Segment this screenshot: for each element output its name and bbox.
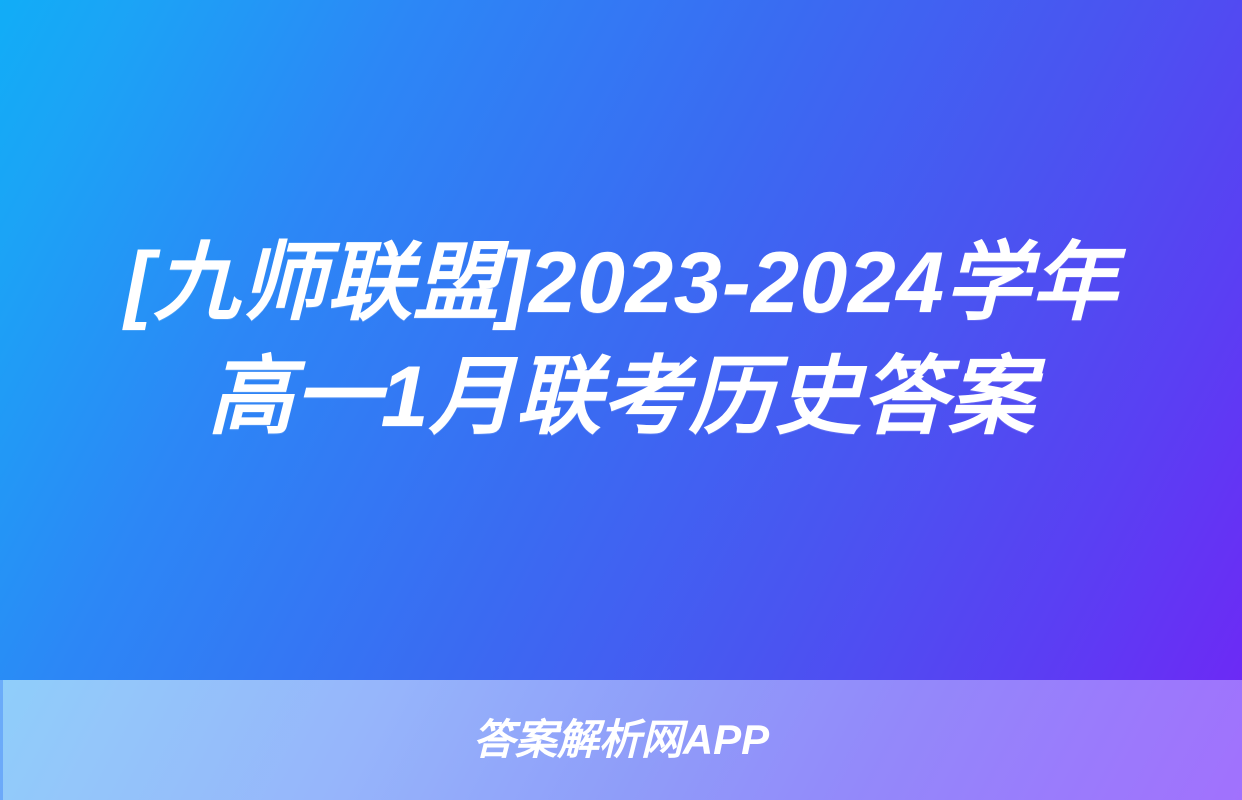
title-block: [九师联盟]2023-2024学年高一1月联考历史答案 — [92, 226, 1150, 455]
cover-canvas: [九师联盟]2023-2024学年高一1月联考历史答案 答案解析网APP — [0, 0, 1242, 800]
watermark-label: 答案解析网APP — [473, 719, 769, 761]
footer-watermark-band: 答案解析网APP — [0, 680, 1242, 800]
hero-gradient-panel: [九师联盟]2023-2024学年高一1月联考历史答案 — [0, 0, 1242, 680]
page-title: [九师联盟]2023-2024学年高一1月联考历史答案 — [92, 226, 1150, 455]
